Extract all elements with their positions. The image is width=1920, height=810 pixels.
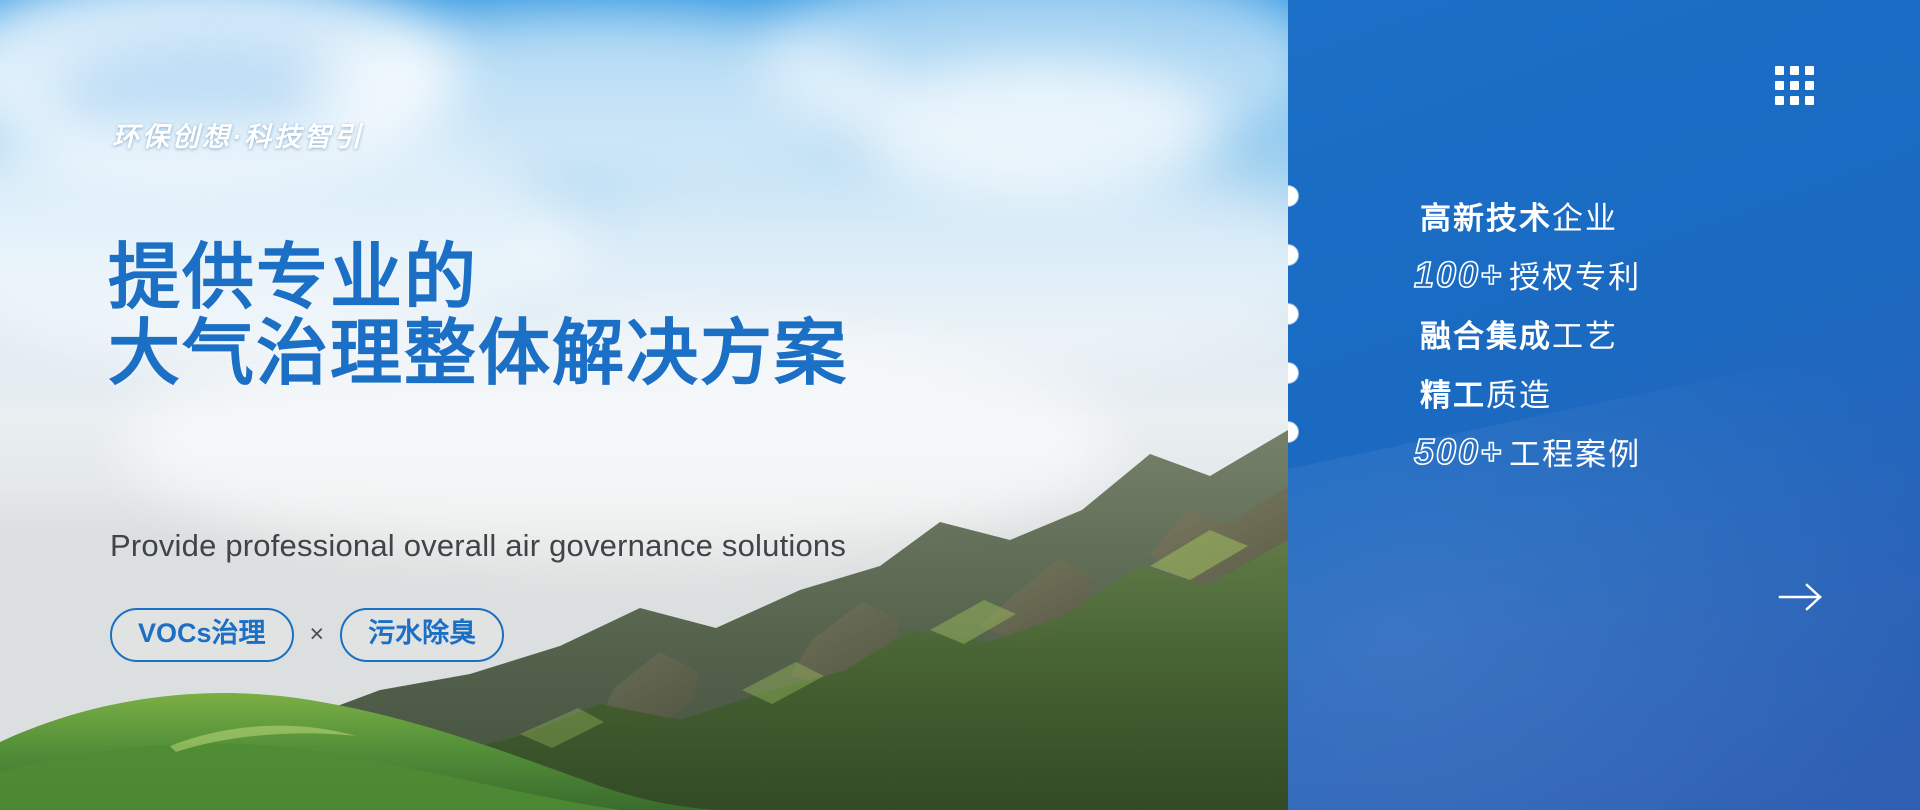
bullet-dot (1288, 363, 1298, 383)
background-photo: 环保创想·科技智引 提供专业的 大气治理整体解决方案 Provide profe… (0, 0, 1288, 810)
feature-strong: 精工 (1420, 370, 1486, 415)
tag-separator: × (310, 620, 325, 649)
feature-item: 100+ 授权专利 (1414, 245, 1641, 304)
mountain-ridge-illustration (0, 390, 1288, 810)
hero-banner: 环保创想·科技智引 提供专业的 大气治理整体解决方案 Provide profe… (0, 0, 1920, 810)
info-panel: 高新技术 企业 100+ 授权专利 融合集成 工艺 精工 质造 500+ (1288, 0, 1920, 810)
headline-line-2: 大气治理整体解决方案 (108, 316, 848, 392)
cloud-shape (300, 10, 900, 180)
apps-grid-icon[interactable] (1775, 66, 1814, 105)
cloud-shape (760, 0, 1288, 160)
feature-item: 精工 质造 (1414, 363, 1641, 422)
feature-strong: 高新技术 (1420, 193, 1552, 238)
feature-item: 融合集成 工艺 (1414, 304, 1641, 363)
feature-item: 高新技术 企业 (1414, 186, 1641, 245)
feature-number: 100+ (1414, 254, 1503, 296)
bullet-dot (1288, 304, 1298, 324)
tag-vocs[interactable]: VOCs治理 (110, 608, 294, 662)
page-title: 提供专业的 大气治理整体解决方案 (108, 240, 848, 393)
feature-number: 500+ (1414, 431, 1503, 473)
feature-list: 高新技术 企业 100+ 授权专利 融合集成 工艺 精工 质造 500+ (1414, 186, 1641, 481)
bullet-dot (1288, 186, 1298, 206)
feature-light: 企业 (1552, 193, 1618, 238)
feature-strong: 融合集成 (1420, 311, 1552, 356)
arrow-right-icon[interactable] (1778, 582, 1824, 612)
feature-light: 质造 (1486, 370, 1552, 415)
bullet-dot (1288, 245, 1298, 265)
headline-line-1: 提供专业的 (108, 240, 848, 316)
tag-wastewater[interactable]: 污水除臭 (340, 608, 504, 662)
feature-light: 工程案例 (1509, 429, 1641, 474)
bullet-dot (1288, 422, 1298, 442)
feature-light: 授权专利 (1509, 252, 1641, 297)
feature-light: 工艺 (1552, 311, 1618, 356)
subtitle-text: Provide professional overall air governa… (110, 528, 846, 564)
feature-item: 500+ 工程案例 (1414, 422, 1641, 481)
kicker-text: 环保创想·科技智引 (112, 115, 364, 154)
cloud-shape (860, 60, 1220, 200)
bullet-dot-rail (1288, 186, 1298, 481)
tag-group: VOCs治理 × 污水除臭 (110, 608, 504, 662)
